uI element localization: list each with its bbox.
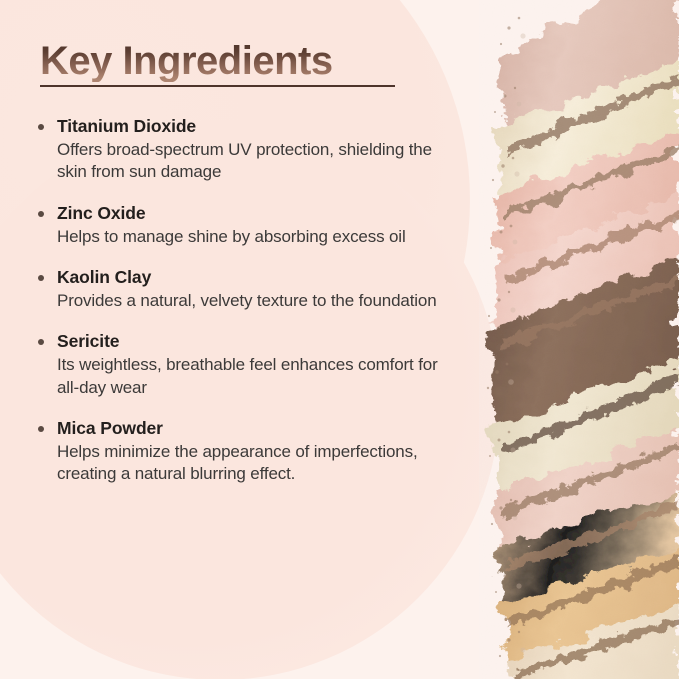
ingredient-name: Kaolin Clay xyxy=(57,267,438,289)
bullet-icon xyxy=(38,339,44,345)
ingredient-description: Helps minimize the appearance of imperfe… xyxy=(57,441,438,486)
ingredient-name: Mica Powder xyxy=(57,418,438,440)
page-title-block: Key Ingredients xyxy=(40,40,440,87)
bullet-icon xyxy=(38,124,44,130)
list-item: Mica Powder Helps minimize the appearanc… xyxy=(38,418,438,486)
list-item: Titanium Dioxide Offers broad-spectrum U… xyxy=(38,116,438,184)
title-underline xyxy=(40,85,395,87)
ingredients-list: Titanium Dioxide Offers broad-spectrum U… xyxy=(38,116,438,486)
bullet-icon xyxy=(38,275,44,281)
ingredient-name: Zinc Oxide xyxy=(57,203,438,225)
ingredient-name: Titanium Dioxide xyxy=(57,116,438,138)
infographic-page: Key Ingredients Titanium Dioxide Offers … xyxy=(0,0,679,679)
ingredient-description: Provides a natural, velvety texture to t… xyxy=(57,290,438,312)
powder-swatch-image xyxy=(479,0,679,679)
list-item: Kaolin Clay Provides a natural, velvety … xyxy=(38,267,438,312)
ingredient-description: Its weightless, breathable feel enhances… xyxy=(57,354,438,399)
ingredient-description: Offers broad-spectrum UV protection, shi… xyxy=(57,139,438,184)
bullet-icon xyxy=(38,426,44,432)
ingredient-description: Helps to manage shine by absorbing exces… xyxy=(57,226,438,248)
ingredient-name: Sericite xyxy=(57,331,438,353)
list-item: Sericite Its weightless, breathable feel… xyxy=(38,331,438,399)
bullet-icon xyxy=(38,211,44,217)
list-item: Zinc Oxide Helps to manage shine by abso… xyxy=(38,203,438,248)
page-title: Key Ingredients xyxy=(40,40,333,82)
text-content-panel: Key Ingredients Titanium Dioxide Offers … xyxy=(0,0,470,679)
